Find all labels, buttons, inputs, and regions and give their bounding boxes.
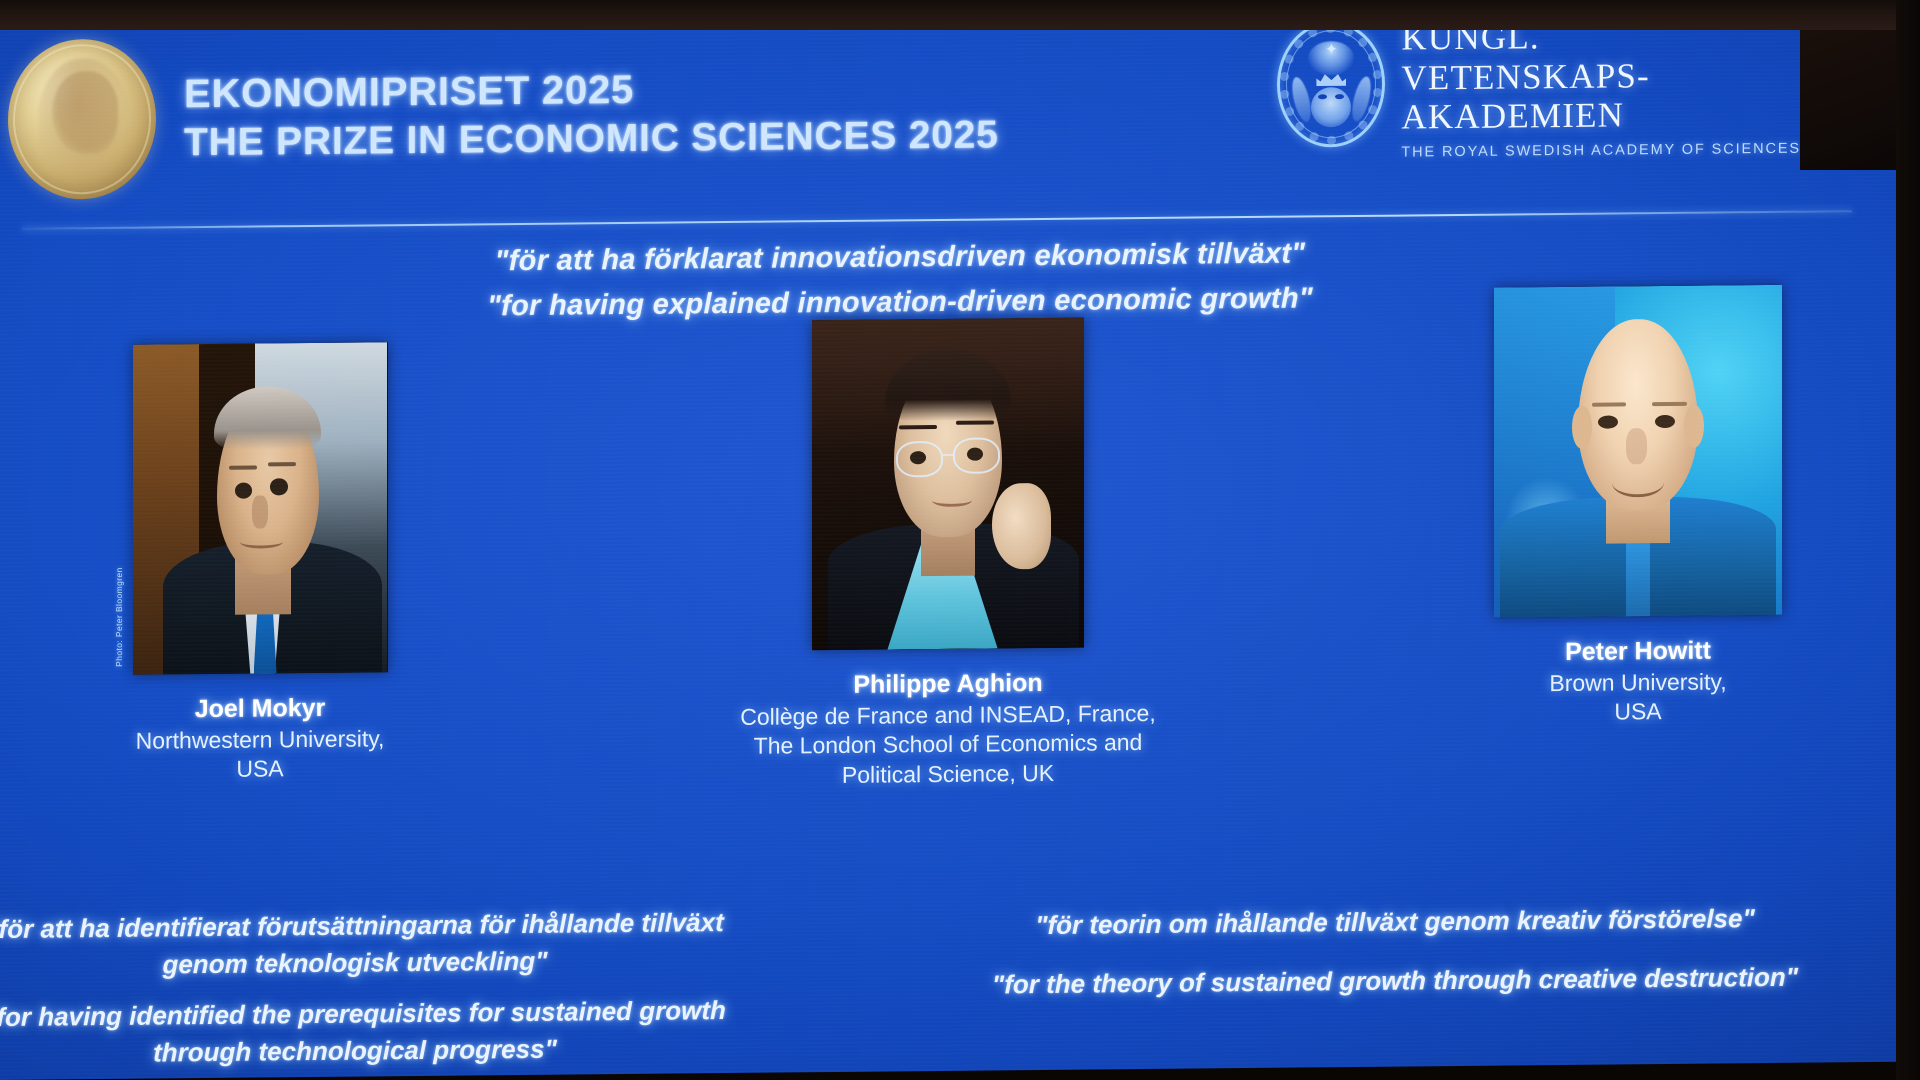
portrait-wrap <box>1494 285 1782 618</box>
projected-slide: EKONOMIPRISET 2025 THE PRIZE IN ECONOMIC… <box>0 8 1896 1080</box>
citation-aghion-howitt-swedish: "för teorin om ihållande tillväxt genom … <box>890 899 1896 946</box>
citation-mokyr: "för att ha identifierat förutsättningar… <box>0 904 750 1073</box>
portrait-peter-howitt <box>1494 285 1782 618</box>
laureate-affiliation-line-1: Brown University, <box>1378 665 1896 700</box>
portrait-wrap <box>812 318 1084 651</box>
title-english: THE PRIZE IN ECONOMIC SCIENCES 2025 <box>184 111 999 166</box>
academy-logo-text: KUNGL. VETENSKAPS- AKADEMIEN THE ROYAL S… <box>1401 11 1801 160</box>
header-divider <box>22 210 1852 230</box>
room-wall-right <box>1896 0 1920 1080</box>
laureate-name: Philippe Aghion <box>688 665 1208 702</box>
laureate-name: Joel Mokyr <box>0 690 520 727</box>
academy-subtitle: THE ROYAL SWEDISH ACADEMY OF SCIENCES <box>1401 140 1801 160</box>
laureate-card-joel-mokyr: Photo: Peter Bloomgren Joel Mokyr Northw… <box>0 341 520 787</box>
citation-mokyr-swedish-line-1: "för att ha identifierat förutsättningar… <box>0 904 750 948</box>
portrait-joel-mokyr <box>133 342 388 674</box>
citation-mokyr-swedish-line-2: genom teknologisk utveckling" <box>0 941 750 985</box>
photo-credit: Photo: Peter Bloomgren <box>114 567 124 667</box>
laureate-affiliation-line-2: USA <box>1378 695 1896 730</box>
citation-mokyr-english-line-1: "for having identified the prerequisites… <box>0 992 750 1036</box>
royal-swedish-academy-seal-icon: ✦ <box>1277 21 1385 148</box>
citation-aghion-howitt: "för teorin om ihållande tillväxt genom … <box>890 899 1896 1005</box>
academy-logo: ✦ KUNGL. VETENSKAPS- AKADEMIEN THE ROYAL… <box>1277 11 1801 162</box>
laureate-name: Peter Howitt <box>1378 633 1896 670</box>
portrait-philippe-aghion <box>812 318 1084 651</box>
laureate-card-peter-howitt: Peter Howitt Brown University, USA <box>1378 284 1896 730</box>
slide-header: EKONOMIPRISET 2025 THE PRIZE IN ECONOMIC… <box>0 8 1896 236</box>
laureates-row: Photo: Peter Bloomgren Joel Mokyr Northw… <box>0 328 1896 906</box>
title-swedish: EKONOMIPRISET 2025 <box>184 62 999 119</box>
laureate-affiliation-line-2: USA <box>0 752 520 787</box>
nobel-medal-icon <box>8 39 156 200</box>
page-title: EKONOMIPRISET 2025 THE PRIZE IN ECONOMIC… <box>184 62 999 166</box>
laureate-card-philippe-aghion: Philippe Aghion Collège de France and IN… <box>688 316 1208 792</box>
bottom-citations: "för att ha identifierat förutsättningar… <box>0 893 1896 1080</box>
presentation-stage: EKONOMIPRISET 2025 THE PRIZE IN ECONOMIC… <box>0 0 1920 1080</box>
laureate-affiliation-line-3: Political Science, UK <box>688 758 1208 793</box>
citation-mokyr-english-line-2: through technological progress" <box>0 1029 750 1073</box>
room-wall-top <box>0 0 1920 30</box>
portrait-wrap: Photo: Peter Bloomgren <box>133 342 388 674</box>
academy-line-2: VETENSKAPS- <box>1401 54 1801 97</box>
laureate-affiliation-line-2: The London School of Economics and <box>688 728 1208 763</box>
academy-line-3: AKADEMIEN <box>1401 94 1801 137</box>
citation-aghion-howitt-english: "for the theory of sustained growth thro… <box>890 958 1896 1005</box>
